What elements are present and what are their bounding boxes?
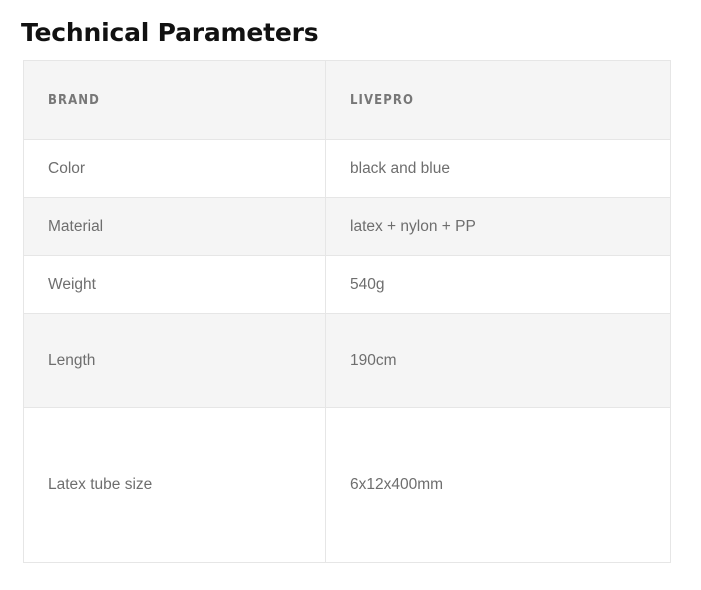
- table-header: BRAND LIVEPRO: [24, 61, 671, 140]
- spec-value: latex + nylon + PP: [326, 198, 671, 256]
- column-header-brand: BRAND: [24, 61, 326, 140]
- spec-label: Weight: [24, 256, 326, 314]
- spec-label: Latex tube size: [24, 408, 326, 563]
- technical-parameters-table: BRAND LIVEPRO Color black and blue Mater…: [23, 60, 671, 563]
- spec-value: black and blue: [326, 140, 671, 198]
- spec-value: 540g: [326, 256, 671, 314]
- table-header-row: BRAND LIVEPRO: [24, 61, 671, 140]
- table-row: Length 190cm: [24, 314, 671, 408]
- table-row: Material latex + nylon + PP: [24, 198, 671, 256]
- page-title: Technical Parameters: [21, 17, 318, 49]
- spec-value: 190cm: [326, 314, 671, 408]
- spec-label: Color: [24, 140, 326, 198]
- spec-label: Material: [24, 198, 326, 256]
- table-body: Color black and blue Material latex + ny…: [24, 140, 671, 563]
- technical-parameters-page: Technical Parameters BRAND LIVEPRO Color…: [0, 0, 701, 590]
- spec-value: 6x12x400mm: [326, 408, 671, 563]
- table-row: Color black and blue: [24, 140, 671, 198]
- column-header-livepro: LIVEPRO: [326, 61, 671, 140]
- table-row: Weight 540g: [24, 256, 671, 314]
- spec-label: Length: [24, 314, 326, 408]
- table-row: Latex tube size 6x12x400mm: [24, 408, 671, 563]
